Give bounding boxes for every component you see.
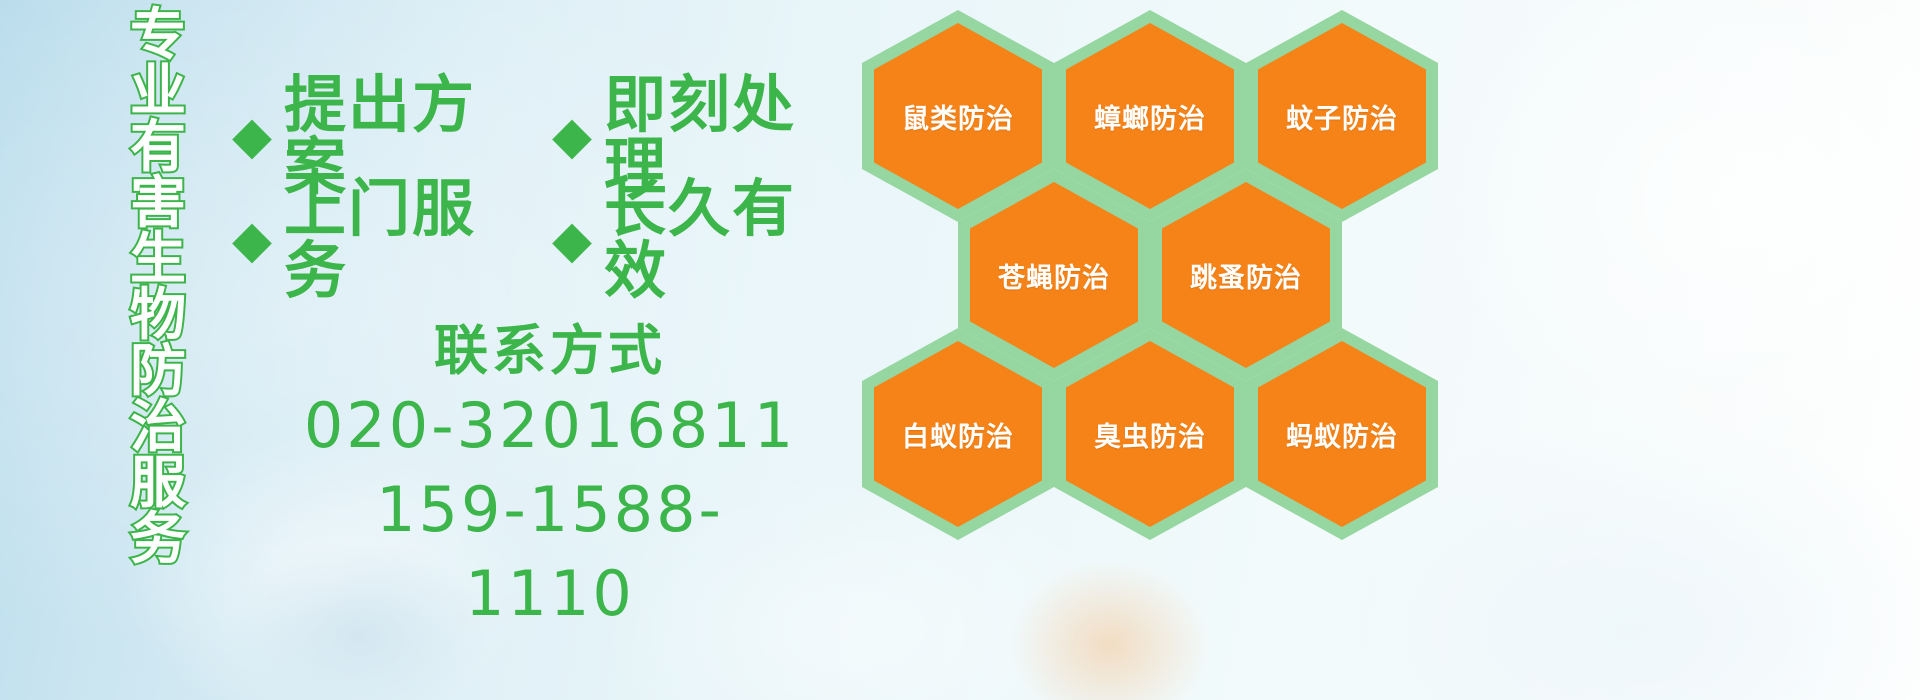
phone-number-mobile[interactable]: 159-1588-1110 [300,468,800,636]
vertical-headline-char: 业 [130,64,186,120]
hex-inner: 臭虫防治 [1066,341,1234,527]
background-glow-orange [1010,560,1210,700]
diamond-bullet-icon: ◆ [552,214,592,266]
feature-list: ◆ 提出方案 ◆ 即刻处理 ◆ 上门服务 ◆ 长久有效 [232,84,872,292]
vertical-headline-char: 务 [130,512,186,568]
hex-inner: 蟑螂防治 [1066,23,1234,209]
hex-inner: 鼠类防治 [874,23,1042,209]
service-label: 鼠类防治 [902,97,1014,136]
vertical-headline-char: 防 [130,344,186,400]
service-label: 苍蝇防治 [998,256,1110,295]
contact-heading: 联系方式 [300,318,800,384]
service-label: 跳蚤防治 [1190,256,1302,295]
hex-inner: 跳蚤防治 [1162,182,1330,368]
contact-block: 联系方式 020-32016811 159-1588-1110 [300,318,800,636]
diamond-bullet-icon: ◆ [552,110,592,162]
hex-inner: 蚊子防治 [1258,23,1426,209]
hex-inner: 白蚁防治 [874,341,1042,527]
vertical-headline-char: 服 [130,456,186,512]
feature-label: 长久有效 [604,178,848,302]
service-label: 臭虫防治 [1094,415,1206,454]
vertical-headline-char: 物 [130,288,186,344]
feature-label: 上门服务 [284,178,528,302]
vertical-headline-char: 有 [130,120,186,176]
service-label: 蚂蚁防治 [1286,415,1398,454]
service-label: 蟑螂防治 [1094,97,1206,136]
diamond-bullet-icon: ◆ [232,110,272,162]
vertical-headline-char: 害 [130,176,186,232]
vertical-headline-char: 治 [130,400,186,456]
background-glow-right [1430,0,1920,460]
hex-inner: 苍蝇防治 [970,182,1138,368]
vertical-headline-char: 生 [130,232,186,288]
hex-inner: 蚂蚁防治 [1258,341,1426,527]
service-label: 白蚁防治 [902,415,1014,454]
phone-number-landline[interactable]: 020-32016811 [300,384,800,468]
service-label: 蚊子防治 [1286,97,1398,136]
vertical-headline-char: 专 [130,8,186,64]
feature-row: ◆ 上门服务 ◆ 长久有效 [232,188,872,292]
service-honeycomb: 鼠类防治 蟑螂防治 蚊子防治 苍蝇防治 跳蚤防治 白蚁防治 [862,2,1462,562]
diamond-bullet-icon: ◆ [232,214,272,266]
vertical-headline: 专 业 有 害 生 物 防 治 服 务 [112,8,204,564]
promo-banner: 专 业 有 害 生 物 防 治 服 务 ◆ 提出方案 ◆ 即刻处理 ◆ 上门服务… [0,0,1920,700]
